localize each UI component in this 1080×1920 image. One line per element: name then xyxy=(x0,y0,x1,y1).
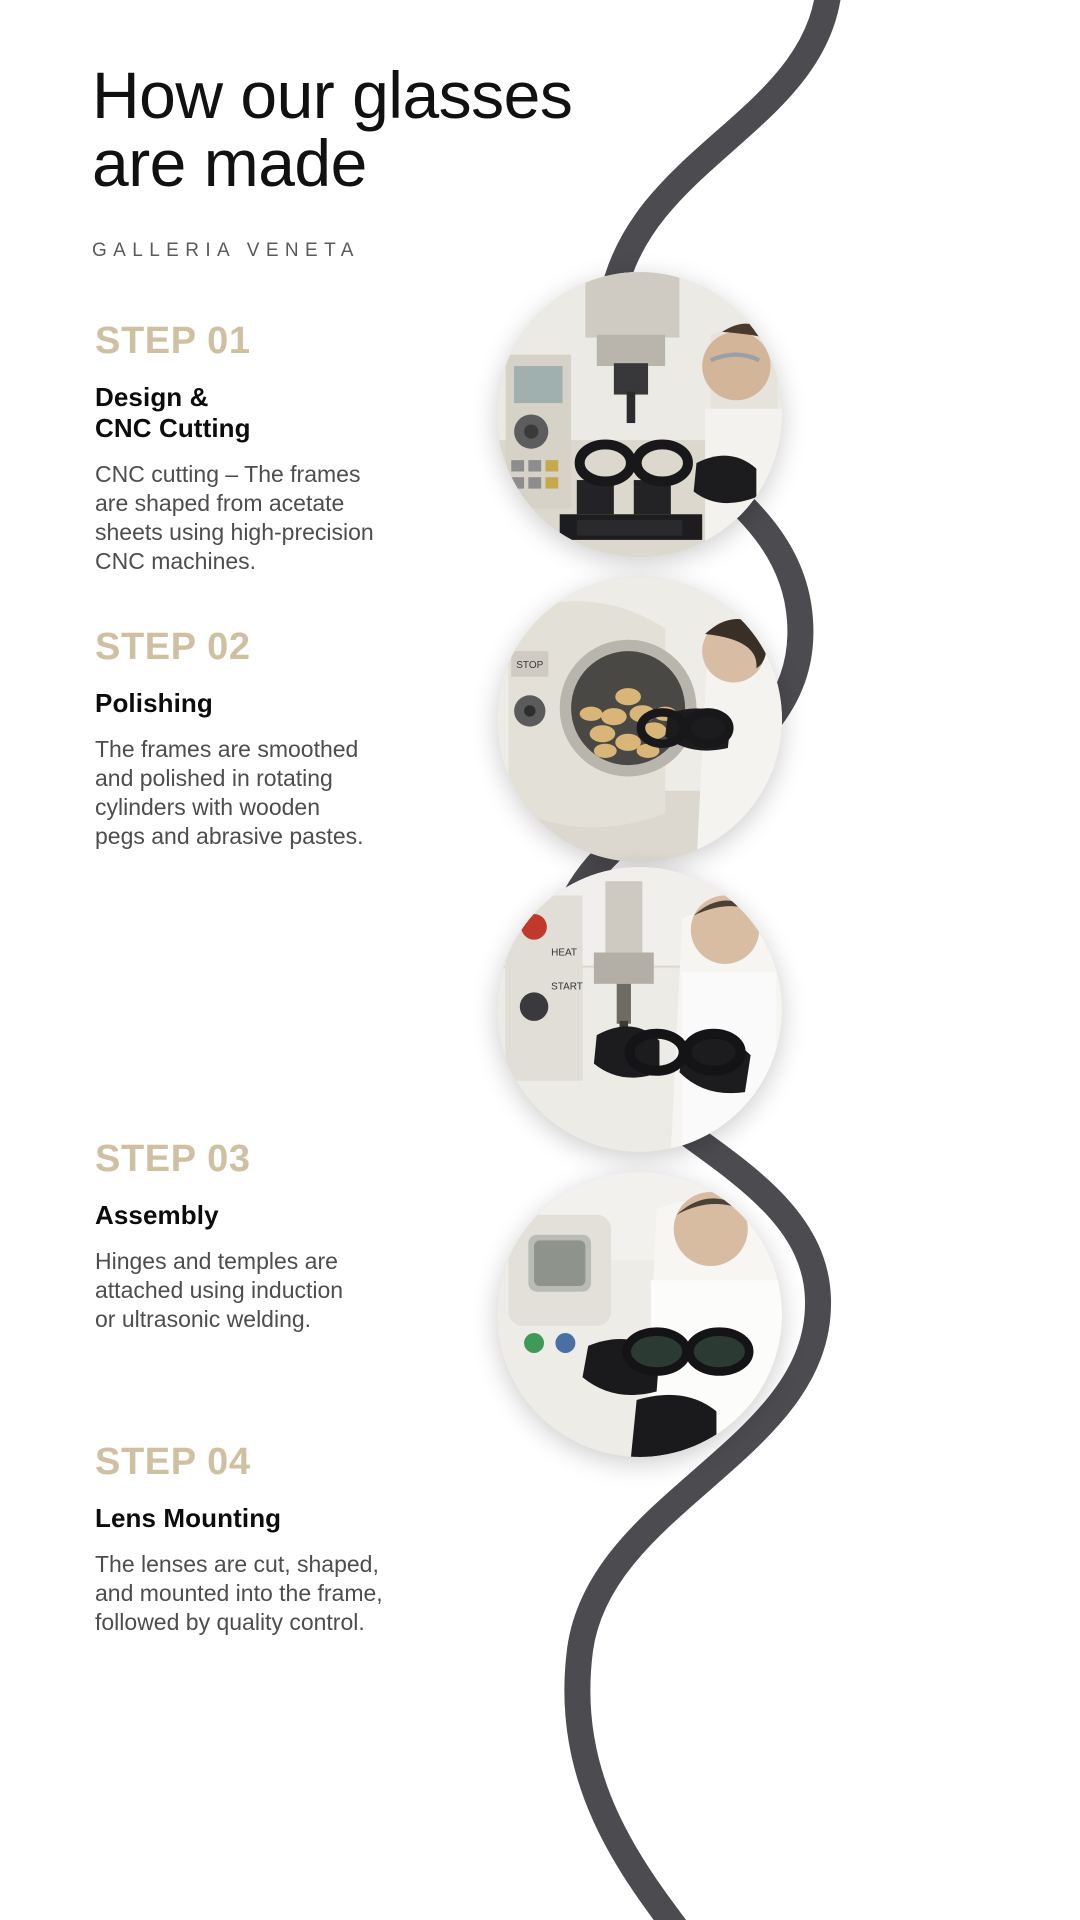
infographic-page: How our glasses are made GALLERIA VENETA xyxy=(0,0,1080,1920)
step-label-1: STEP 01 xyxy=(95,322,495,360)
step-heading-2: Polishing xyxy=(95,688,495,719)
step-item-3: STEP 03 Assembly Hinges and temples are … xyxy=(95,1140,495,1334)
step-label-3: STEP 03 xyxy=(95,1140,495,1178)
step-body-4: The lenses are cut, shaped, and mounted … xyxy=(95,1550,495,1637)
page-title: How our glasses are made xyxy=(92,62,712,198)
brand-name: GALLERIA VENETA xyxy=(92,240,712,262)
step-label-2: STEP 02 xyxy=(95,628,495,666)
steps-list: STEP 01 Design & CNC Cutting CNC cutting… xyxy=(0,0,1080,1920)
step-heading-1: Design & CNC Cutting xyxy=(95,382,495,444)
header: How our glasses are made GALLERIA VENETA xyxy=(92,62,712,262)
step-label-4: STEP 04 xyxy=(95,1443,495,1481)
step-item-4: STEP 04 Lens Mounting The lenses are cut… xyxy=(95,1443,495,1637)
step-body-1: CNC cutting – The frames are shaped from… xyxy=(95,460,495,576)
step-body-2: The frames are smoothed and polished in … xyxy=(95,735,495,851)
step-heading-3: Assembly xyxy=(95,1200,495,1231)
step-item-2: STEP 02 Polishing The frames are smoothe… xyxy=(95,628,495,851)
step-item-1: STEP 01 Design & CNC Cutting CNC cutting… xyxy=(95,322,495,576)
step-heading-4: Lens Mounting xyxy=(95,1503,495,1534)
step-body-3: Hinges and temples are attached using in… xyxy=(95,1247,495,1334)
